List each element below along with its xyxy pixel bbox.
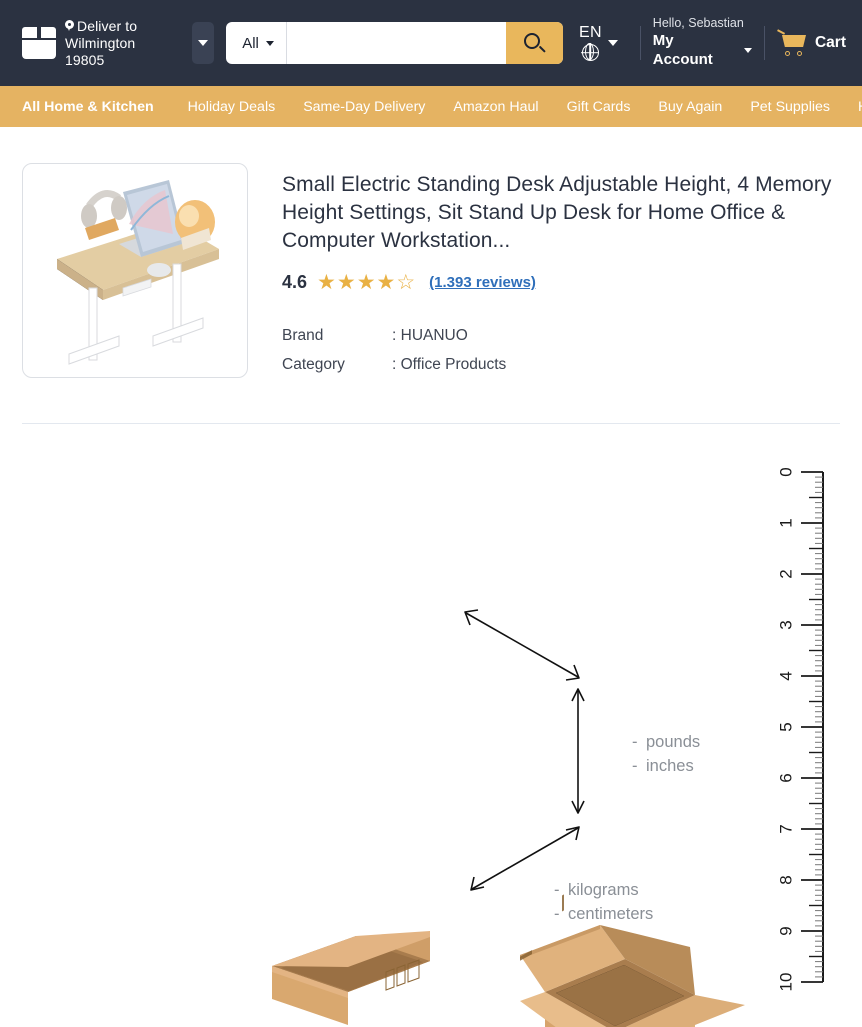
shopping-cart-icon — [777, 30, 807, 56]
meta-value-category: : Office Products — [392, 350, 506, 379]
package-dimensions-illustration: 0 1 2 3 4 5 6 7 8 9 10 -pounds -inches — [0, 447, 862, 1027]
deliver-to-text: Deliver to Wilmington 19805 — [65, 18, 178, 69]
section-divider — [22, 423, 840, 424]
caret-down-icon — [608, 40, 618, 46]
deliver-to-button[interactable]: Deliver to Wilmington 19805 — [22, 18, 178, 69]
ruler-tick-4: 4 — [776, 671, 795, 680]
search-category-label: All — [242, 35, 259, 52]
open-box-flaps-up-right — [520, 925, 745, 1027]
star-filled-icon: ★ — [377, 272, 396, 293]
nav-item-buy-again[interactable]: Buy Again — [658, 99, 736, 115]
meta-key-brand: Brand — [282, 321, 392, 350]
dash: - — [632, 730, 646, 754]
nav-item-all-home-kitchen[interactable]: All Home & Kitchen — [22, 99, 168, 115]
unit-pounds: pounds — [646, 733, 700, 751]
product-details: Small Electric Standing Desk Adjustable … — [282, 163, 840, 379]
ruler-tick-1: 1 — [776, 518, 795, 527]
product-title: Small Electric Standing Desk Adjustable … — [282, 171, 840, 255]
ruler-tick-8: 8 — [776, 875, 795, 884]
nav-item-amazon-haul[interactable]: Amazon Haul — [453, 99, 552, 115]
nav-item-handmade[interactable]: Handmade — [858, 99, 862, 115]
star-filled-icon: ★ — [357, 272, 376, 293]
search-input[interactable] — [287, 22, 506, 64]
search-button[interactable] — [506, 22, 563, 64]
language-code: EN — [579, 25, 602, 41]
product-section: Small Electric Standing Desk Adjustable … — [0, 127, 862, 424]
reviews-link[interactable]: (1.393 reviews) — [429, 274, 536, 291]
imperial-units-label: -pounds -inches — [632, 730, 700, 778]
rating-value: 4.6 — [282, 272, 307, 293]
ruler-tick-9: 9 — [776, 926, 795, 935]
unit-kilograms: kilograms — [568, 881, 639, 899]
dash: - — [632, 754, 646, 778]
header-divider — [640, 26, 641, 60]
ruler-tick-3: 3 — [776, 620, 795, 629]
open-flat-box-top — [272, 931, 430, 1027]
ruler-tick-6: 6 — [776, 773, 795, 782]
dash: - — [554, 878, 568, 902]
search-bar: All — [226, 22, 563, 64]
nav-item-gift-cards[interactable]: Gift Cards — [567, 99, 645, 115]
search-category-select[interactable]: All — [226, 22, 287, 64]
nav-item-same-day-delivery[interactable]: Same-Day Delivery — [303, 99, 439, 115]
star-filled-icon: ★ — [337, 272, 356, 293]
account-menu[interactable]: Hello, Sebastian My Account — [653, 16, 752, 69]
meta-row-brand: Brand : HUANUO — [282, 321, 840, 350]
site-header: Deliver to Wilmington 19805 All EN — [0, 0, 862, 86]
ruler-tick-5: 5 — [776, 722, 795, 731]
unit-inches: inches — [646, 757, 694, 775]
dash: - — [554, 902, 568, 926]
unit-centimeters: centimeters — [568, 905, 653, 923]
meta-value-brand: : HUANUO — [392, 321, 468, 350]
dimension-arrows — [465, 610, 584, 890]
globe-icon — [582, 44, 599, 61]
ruler-tick-7: 7 — [776, 824, 795, 833]
ruler-tick-2: 2 — [776, 569, 795, 578]
location-pin-icon — [65, 20, 74, 32]
nav-item-pet-supplies[interactable]: Pet Supplies — [750, 99, 844, 115]
caret-down-icon — [744, 48, 752, 53]
rating-row: 4.6 ★ ★ ★ ★ ☆ (1.393 reviews) — [282, 272, 840, 293]
nav-item-holiday-deals[interactable]: Holiday Deals — [188, 99, 290, 115]
package-icon — [22, 27, 56, 59]
product-thumbnail[interactable] — [22, 163, 248, 378]
category-navbar: All Home & Kitchen Holiday Deals Same-Da… — [0, 86, 862, 127]
chevron-down-icon — [198, 40, 208, 46]
location-dropdown-button[interactable] — [192, 22, 214, 64]
deliver-to-location: Wilmington 19805 — [65, 35, 135, 68]
language-selector[interactable]: EN — [579, 25, 618, 61]
account-greeting: Hello, Sebastian — [653, 16, 752, 32]
cart-button[interactable]: Cart — [777, 30, 846, 56]
ruler-tick-0: 0 — [776, 467, 795, 476]
star-empty-icon: ☆ — [396, 272, 415, 293]
star-filled-icon: ★ — [317, 272, 336, 293]
page-root: Deliver to Wilmington 19805 All EN — [0, 0, 862, 1027]
meta-row-category: Category : Office Products — [282, 350, 840, 379]
star-rating: ★ ★ ★ ★ ☆ — [317, 272, 415, 293]
cart-label: Cart — [815, 34, 846, 52]
account-label: My Account — [653, 32, 737, 70]
header-divider — [764, 26, 765, 60]
ruler-tick-10: 10 — [776, 973, 795, 992]
deliver-to-label: Deliver to — [77, 18, 137, 35]
vertical-ruler: 0 1 2 3 4 5 6 7 8 9 10 — [776, 467, 823, 991]
product-meta: Brand : HUANUO Category : Office Product… — [282, 321, 840, 379]
caret-down-icon — [266, 41, 274, 46]
meta-key-category: Category — [282, 350, 392, 379]
magnifier-icon — [524, 33, 545, 54]
metric-units-label: -kilograms -centimeters — [554, 878, 653, 926]
